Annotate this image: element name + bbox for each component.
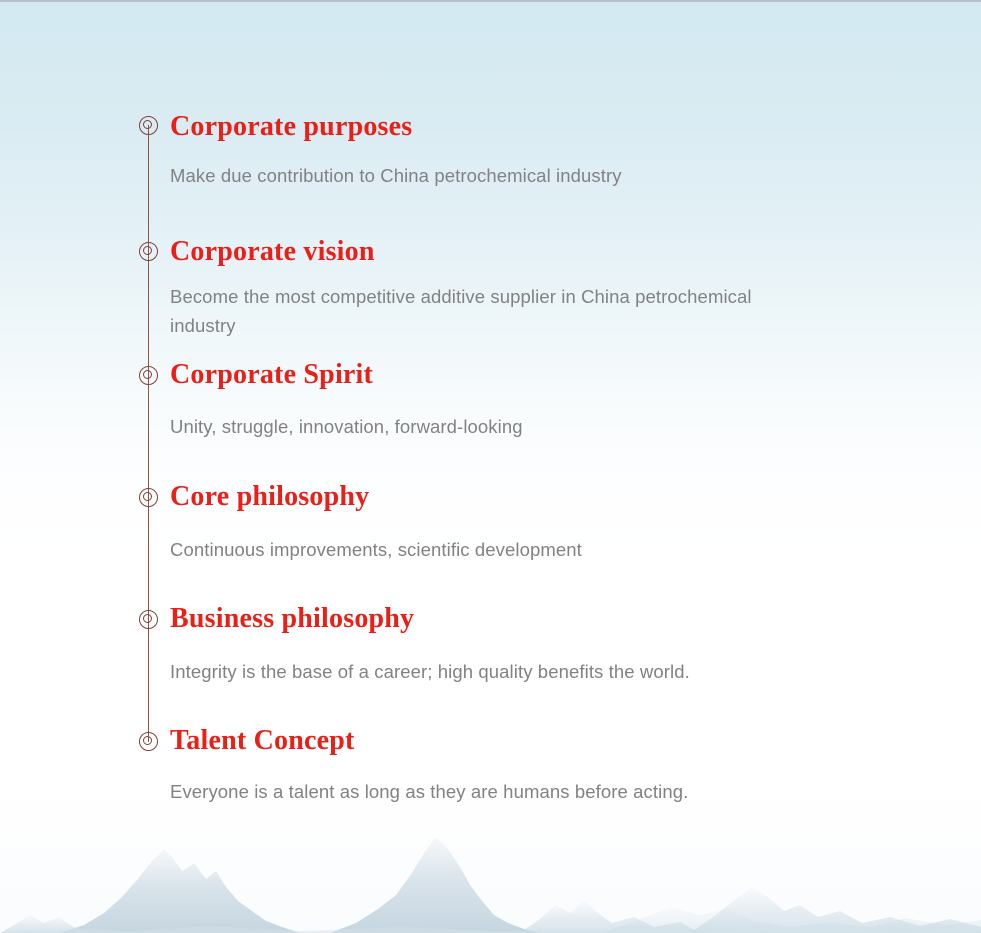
timeline-item-heading: Business philosophy	[170, 605, 414, 633]
timeline-item-body: Become the most competitive additive sup…	[170, 282, 770, 340]
timeline-item-heading: Talent Concept	[170, 727, 355, 755]
timeline-item-body: Unity, struggle, innovation, forward-loo…	[170, 412, 770, 441]
timeline-item-body: Integrity is the base of a career; high …	[170, 657, 870, 686]
timeline-item-heading: Corporate purposes	[170, 113, 412, 141]
culture-timeline: Corporate purposes Make due contribution…	[0, 2, 981, 933]
timeline-item-heading: Corporate vision	[170, 238, 375, 266]
timeline-item-body: Make due contribution to China petrochem…	[170, 161, 770, 190]
timeline-item-body: Everyone is a talent as long as they are…	[170, 777, 870, 806]
double-ring-icon	[139, 488, 158, 507]
timeline-item-heading: Corporate Spirit	[170, 361, 373, 389]
timeline-item-body: Continuous improvements, scientific deve…	[170, 535, 770, 564]
double-ring-icon	[139, 610, 158, 629]
timeline-connector-line	[148, 125, 149, 742]
culture-page: Corporate purposes Make due contribution…	[0, 0, 981, 933]
double-ring-icon	[139, 242, 158, 261]
timeline-item-heading: Core philosophy	[170, 483, 369, 511]
double-ring-icon	[139, 366, 158, 385]
double-ring-icon	[139, 732, 158, 751]
double-ring-icon	[139, 116, 158, 135]
